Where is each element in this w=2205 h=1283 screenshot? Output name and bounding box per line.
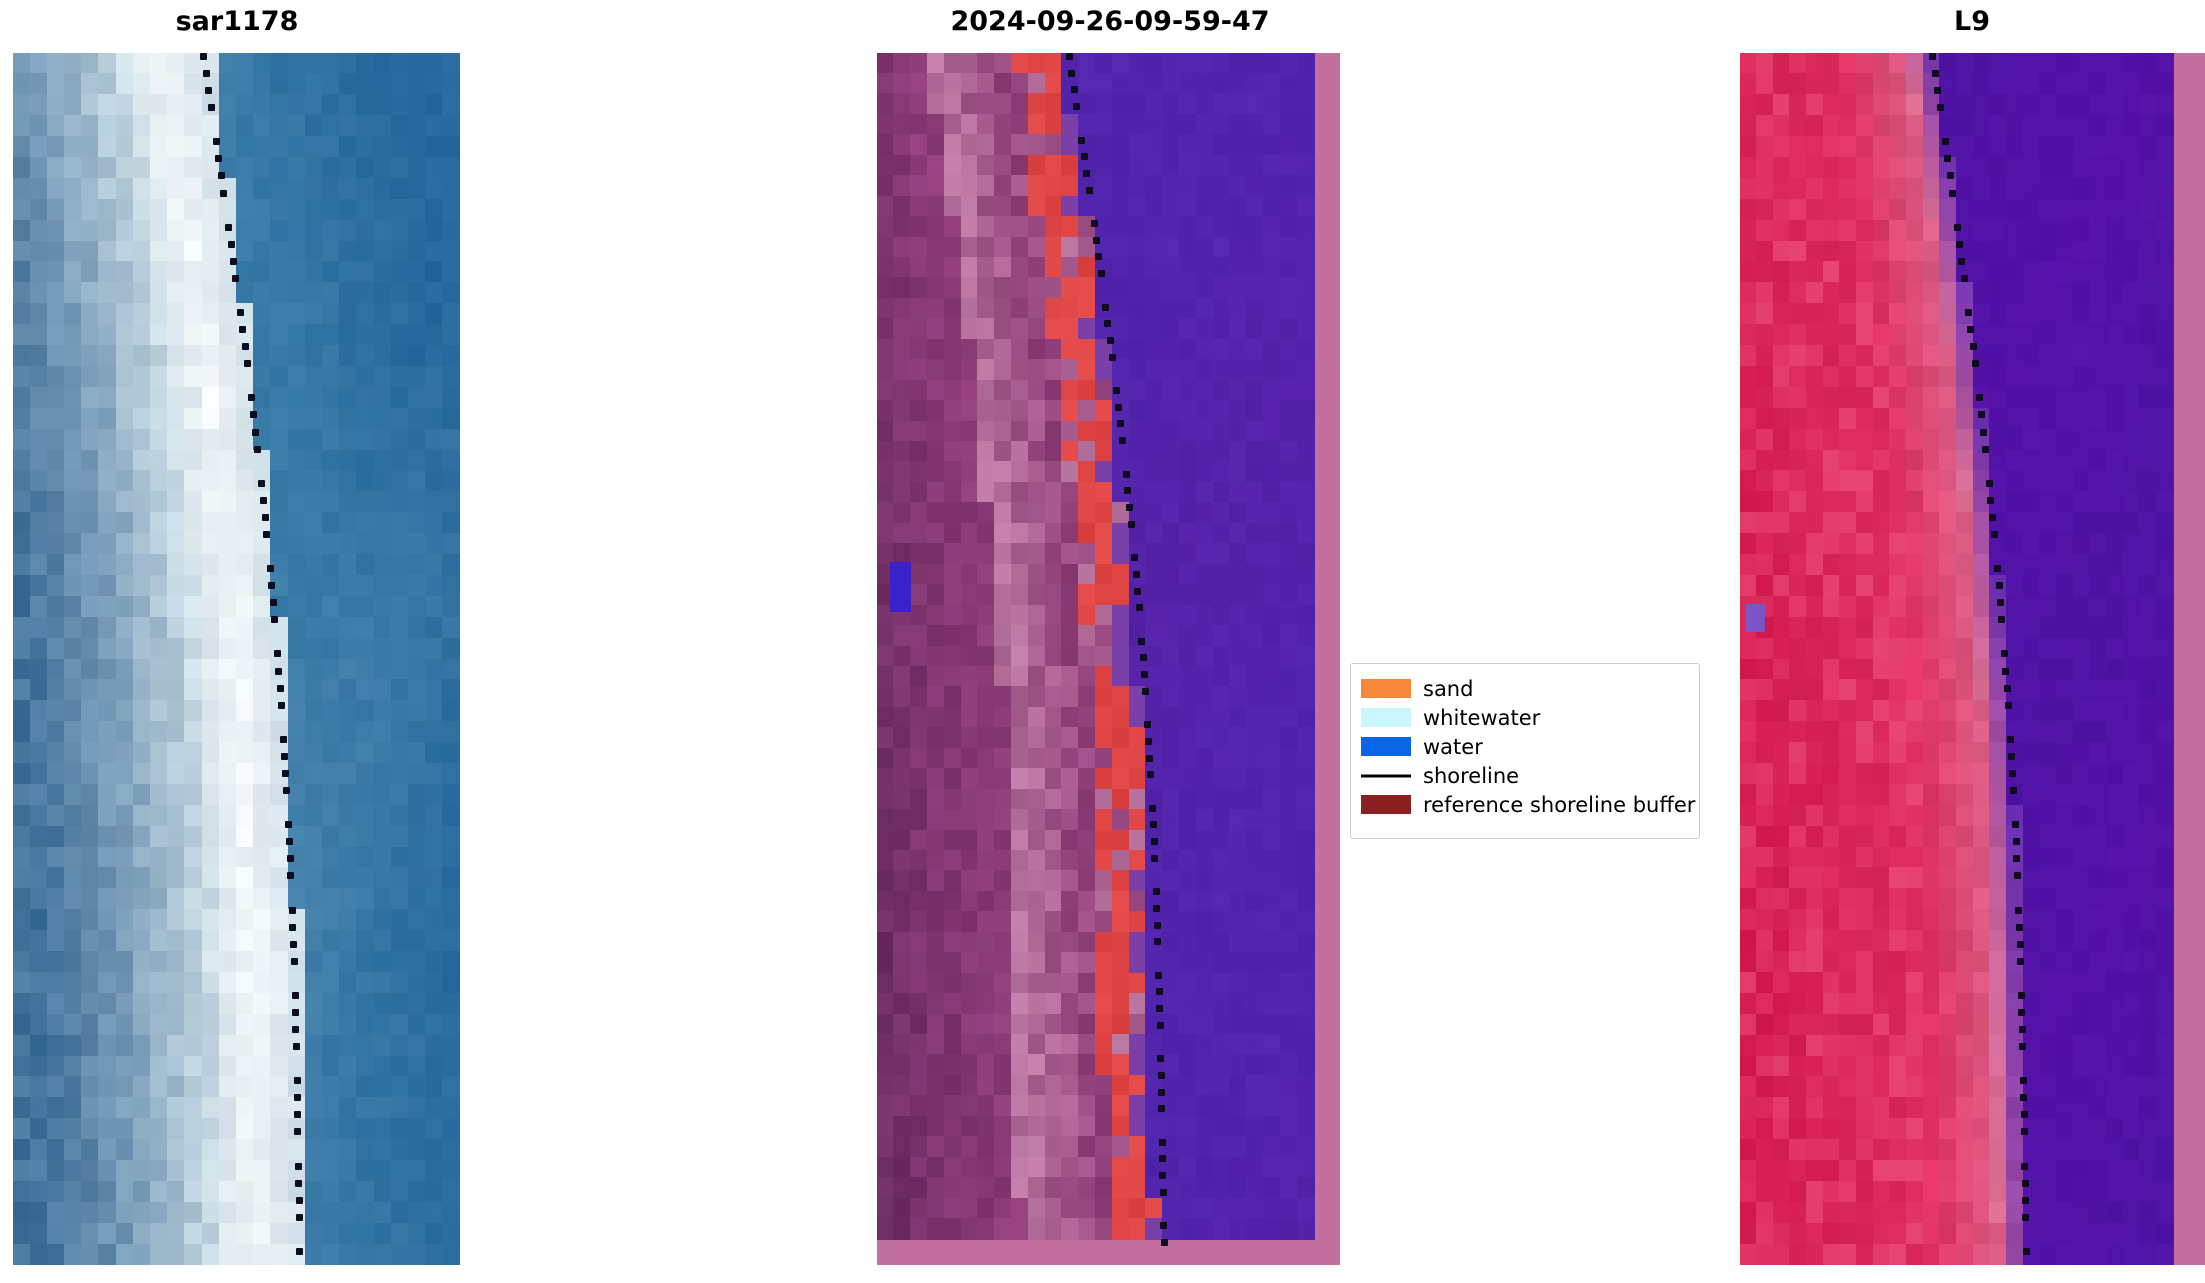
- shoreline-marker: [1145, 738, 1152, 745]
- shoreline-marker: [1987, 497, 1994, 504]
- shoreline-marker: [294, 1094, 301, 1101]
- legend-swatch-shoreline: [1361, 766, 1411, 785]
- shoreline-marker: [1086, 187, 1093, 194]
- shoreline-marker: [2013, 855, 2020, 862]
- classified-image-canvas: [877, 53, 1340, 1265]
- shoreline-marker: [1126, 504, 1133, 511]
- legend-label-reference-shoreline-buffer: reference shoreline buffer: [1423, 793, 1695, 817]
- shoreline-marker: [267, 565, 274, 572]
- shoreline-marker: [2019, 1043, 2026, 1050]
- shoreline-marker: [2022, 1197, 2029, 1204]
- shoreline-marker: [2018, 1009, 2025, 1016]
- shoreline-marker: [2002, 668, 2009, 675]
- shoreline-marker: [1115, 404, 1122, 411]
- shoreline-marker: [1929, 53, 1936, 60]
- shoreline-marker: [239, 326, 246, 333]
- shoreline-marker: [1117, 420, 1124, 427]
- shoreline-marker: [215, 155, 222, 162]
- shoreline-marker: [1947, 172, 1954, 179]
- shoreline-marker: [277, 685, 284, 692]
- shoreline-marker: [286, 838, 293, 845]
- shoreline-marker: [1942, 138, 1949, 145]
- shoreline-marker: [1961, 275, 1968, 282]
- shoreline-marker: [2022, 1214, 2029, 1221]
- shoreline-marker: [1949, 190, 1956, 197]
- shoreline-marker: [228, 241, 235, 248]
- shoreline-marker: [1136, 604, 1143, 611]
- shoreline-marker: [2019, 1026, 2026, 1033]
- shoreline-marker: [289, 907, 296, 914]
- shoreline-marker: [1997, 599, 2004, 606]
- shoreline-marker: [294, 1111, 301, 1118]
- shoreline-marker: [2015, 907, 2022, 914]
- shoreline-marker: [1157, 1022, 1164, 1029]
- shoreline-marker: [271, 616, 278, 623]
- panel-index-image[interactable]: [1740, 53, 2205, 1265]
- shoreline-marker: [1124, 487, 1131, 494]
- shoreline-marker: [287, 872, 294, 879]
- shoreline-marker: [1994, 565, 2001, 572]
- shoreline-marker: [1154, 938, 1161, 945]
- shoreline-marker: [1157, 1055, 1164, 1062]
- shoreline-marker: [1998, 616, 2005, 623]
- shoreline-marker: [1954, 224, 1961, 231]
- shoreline-marker: [1151, 838, 1158, 845]
- shoreline-marker: [1091, 220, 1098, 227]
- shoreline-marker: [1156, 988, 1163, 995]
- panel-title-classified: 2024-09-26-09-59-47: [860, 6, 1360, 37]
- shoreline-marker: [268, 582, 275, 589]
- shoreline-marker: [2021, 1128, 2028, 1135]
- shoreline-marker: [1068, 70, 1075, 77]
- shoreline-marker: [285, 821, 292, 828]
- shoreline-marker: [1160, 1222, 1167, 1229]
- shoreline-marker: [1071, 86, 1078, 93]
- shoreline-marker: [2010, 787, 2017, 794]
- index-shoreline-dots: [1740, 53, 2205, 1265]
- shoreline-marker: [242, 343, 249, 350]
- shoreline-marker: [1131, 554, 1138, 561]
- shoreline-marker: [1149, 805, 1156, 812]
- shoreline-marker: [1095, 253, 1102, 260]
- shoreline-marker: [1104, 320, 1111, 327]
- legend-label-whitewater: whitewater: [1423, 706, 1540, 730]
- shoreline-marker: [218, 172, 225, 179]
- shoreline-marker: [1144, 721, 1151, 728]
- shoreline-marker: [270, 599, 277, 606]
- shoreline-marker: [262, 514, 269, 521]
- legend-label-shoreline: shoreline: [1423, 764, 1519, 788]
- shoreline-marker: [200, 53, 207, 60]
- shoreline-marker: [275, 668, 282, 675]
- shoreline-marker: [1154, 922, 1161, 929]
- shoreline-marker: [1161, 1239, 1168, 1246]
- shoreline-marker: [283, 787, 290, 794]
- shoreline-marker: [1159, 1139, 1166, 1146]
- shoreline-marker: [208, 104, 215, 111]
- shoreline-marker: [1956, 241, 1963, 248]
- shoreline-marker: [252, 429, 259, 436]
- shoreline-marker: [1980, 429, 1987, 436]
- shoreline-marker: [295, 1163, 302, 1170]
- shoreline-marker: [2007, 736, 2014, 743]
- shoreline-marker: [1142, 688, 1149, 695]
- shoreline-marker: [1160, 1189, 1167, 1196]
- shoreline-marker: [1996, 582, 2003, 589]
- shoreline-marker: [2018, 992, 2025, 999]
- shoreline-marker: [2009, 770, 2016, 777]
- shoreline-marker: [1158, 1089, 1165, 1096]
- shoreline-marker: [213, 138, 220, 145]
- shoreline-marker: [1937, 104, 1944, 111]
- shoreline-marker: [1965, 309, 1972, 316]
- shoreline-marker: [1158, 1072, 1165, 1079]
- shoreline-marker: [296, 1214, 303, 1221]
- shoreline-marker: [2017, 941, 2024, 948]
- shoreline-marker: [237, 309, 244, 316]
- shoreline-marker: [1119, 437, 1126, 444]
- shoreline-marker: [1066, 53, 1073, 60]
- shoreline-marker: [2004, 685, 2011, 692]
- shoreline-marker: [2022, 1180, 2029, 1187]
- shoreline-marker: [1133, 571, 1140, 578]
- shoreline-marker: [1109, 354, 1116, 361]
- shoreline-marker: [1982, 446, 1989, 453]
- rgb-shoreline-dots: [13, 53, 460, 1265]
- shoreline-marker: [1150, 821, 1157, 828]
- shoreline-marker: [203, 70, 210, 77]
- shoreline-marker: [296, 1197, 303, 1204]
- shoreline-marker: [1081, 153, 1088, 160]
- shoreline-marker: [258, 480, 265, 487]
- shoreline-marker: [290, 941, 297, 948]
- rgb-image-canvas: [13, 53, 460, 1265]
- panel-title-index: L9: [1800, 6, 2144, 37]
- shoreline-marker: [1102, 304, 1109, 311]
- shoreline-marker: [1153, 905, 1160, 912]
- shoreline-marker: [1986, 480, 1993, 487]
- shoreline-marker: [1972, 360, 1979, 367]
- shoreline-marker: [2013, 838, 2020, 845]
- legend-label-water: water: [1423, 735, 1483, 759]
- shoreline-marker: [1970, 343, 1977, 350]
- shoreline-marker: [1098, 270, 1105, 277]
- legend-swatch-sand: [1361, 679, 1411, 698]
- shoreline-marker: [2014, 872, 2021, 879]
- shoreline-marker: [232, 275, 239, 282]
- shoreline-marker: [1156, 1005, 1163, 1012]
- shoreline-marker: [230, 258, 237, 265]
- shoreline-marker: [244, 360, 251, 367]
- legend-swatch-reference-shoreline-buffer: [1361, 795, 1411, 814]
- shoreline-marker: [292, 1026, 299, 1033]
- shoreline-marker: [2020, 1094, 2027, 1101]
- legend[interactable]: sand whitewater water shoreline referenc…: [1350, 663, 1700, 839]
- shoreline-marker: [281, 753, 288, 760]
- shoreline-marker: [1159, 1155, 1166, 1162]
- legend-swatch-whitewater: [1361, 708, 1411, 727]
- shoreline-marker: [2012, 821, 2019, 828]
- shoreline-marker: [1991, 531, 1998, 538]
- shoreline-marker: [250, 411, 257, 418]
- legend-item[interactable]: whitewater: [1361, 703, 1687, 732]
- shoreline-marker: [1083, 170, 1090, 177]
- shoreline-marker: [294, 1128, 301, 1135]
- shoreline-marker: [205, 87, 212, 94]
- shoreline-marker: [2021, 1163, 2028, 1170]
- legend-item[interactable]: sand: [1361, 674, 1687, 703]
- shoreline-marker: [1944, 155, 1951, 162]
- shoreline-marker: [1113, 387, 1120, 394]
- shoreline-marker: [2020, 1077, 2027, 1084]
- shoreline-marker: [248, 394, 255, 401]
- shoreline-marker: [1141, 671, 1148, 678]
- figure-canvas: sar1178 2024-09-26-09-59-47 L9 sand wh: [0, 0, 2205, 1283]
- shoreline-marker: [2001, 650, 2008, 657]
- shoreline-marker: [1147, 771, 1154, 778]
- classified-shoreline-dots: [877, 53, 1340, 1265]
- shoreline-marker: [1128, 521, 1135, 528]
- shoreline-marker: [1153, 888, 1160, 895]
- shoreline-marker: [280, 736, 287, 743]
- index-image-canvas: [1740, 53, 2205, 1265]
- shoreline-marker: [2023, 1248, 2030, 1255]
- shoreline-marker: [1159, 1172, 1166, 1179]
- panel-rgb-image[interactable]: [13, 53, 460, 1265]
- shoreline-marker: [1093, 237, 1100, 244]
- shoreline-marker: [220, 190, 227, 197]
- shoreline-marker: [254, 446, 261, 453]
- shoreline-marker: [263, 531, 270, 538]
- shoreline-marker: [289, 924, 296, 931]
- shoreline-marker: [2005, 702, 2012, 709]
- shoreline-marker: [291, 958, 298, 965]
- shoreline-marker: [1134, 588, 1141, 595]
- shoreline-marker: [278, 702, 285, 709]
- shoreline-marker: [2021, 1111, 2028, 1118]
- shoreline-marker: [295, 1180, 302, 1187]
- legend-swatch-water: [1361, 737, 1411, 756]
- shoreline-marker: [1932, 70, 1939, 77]
- shoreline-marker: [1073, 103, 1080, 110]
- shoreline-marker: [1138, 638, 1145, 645]
- shoreline-marker: [1934, 87, 1941, 94]
- legend-item[interactable]: water: [1361, 732, 1687, 761]
- shoreline-marker: [1989, 514, 1996, 521]
- shoreline-marker: [274, 650, 281, 657]
- shoreline-marker: [2008, 753, 2015, 760]
- shoreline-marker: [1158, 1105, 1165, 1112]
- shoreline-marker: [1140, 654, 1147, 661]
- shoreline-marker: [1107, 337, 1114, 344]
- panel-title-rgb: sar1178: [0, 6, 474, 37]
- legend-label-sand: sand: [1423, 677, 1473, 701]
- legend-item[interactable]: shoreline: [1361, 761, 1687, 790]
- shoreline-marker: [260, 497, 267, 504]
- shoreline-marker: [293, 1043, 300, 1050]
- shoreline-marker: [1123, 471, 1130, 478]
- shoreline-marker: [2017, 958, 2024, 965]
- shoreline-marker: [296, 1248, 303, 1255]
- shoreline-marker: [1151, 855, 1158, 862]
- shoreline-marker: [1976, 394, 1983, 401]
- shoreline-marker: [1958, 258, 1965, 265]
- shoreline-marker: [225, 224, 232, 231]
- shoreline-marker: [292, 992, 299, 999]
- shoreline-marker: [294, 1077, 301, 1084]
- shoreline-marker: [1967, 326, 1974, 333]
- shoreline-marker: [1078, 137, 1085, 144]
- panel-classified-image[interactable]: [877, 53, 1340, 1265]
- shoreline-marker: [1155, 972, 1162, 979]
- shoreline-marker: [287, 855, 294, 862]
- shoreline-marker: [292, 1009, 299, 1016]
- shoreline-marker: [1978, 411, 1985, 418]
- shoreline-marker: [282, 770, 289, 777]
- shoreline-marker: [2016, 924, 2023, 931]
- legend-item[interactable]: reference shoreline buffer: [1361, 790, 1687, 819]
- shoreline-marker: [1146, 755, 1153, 762]
